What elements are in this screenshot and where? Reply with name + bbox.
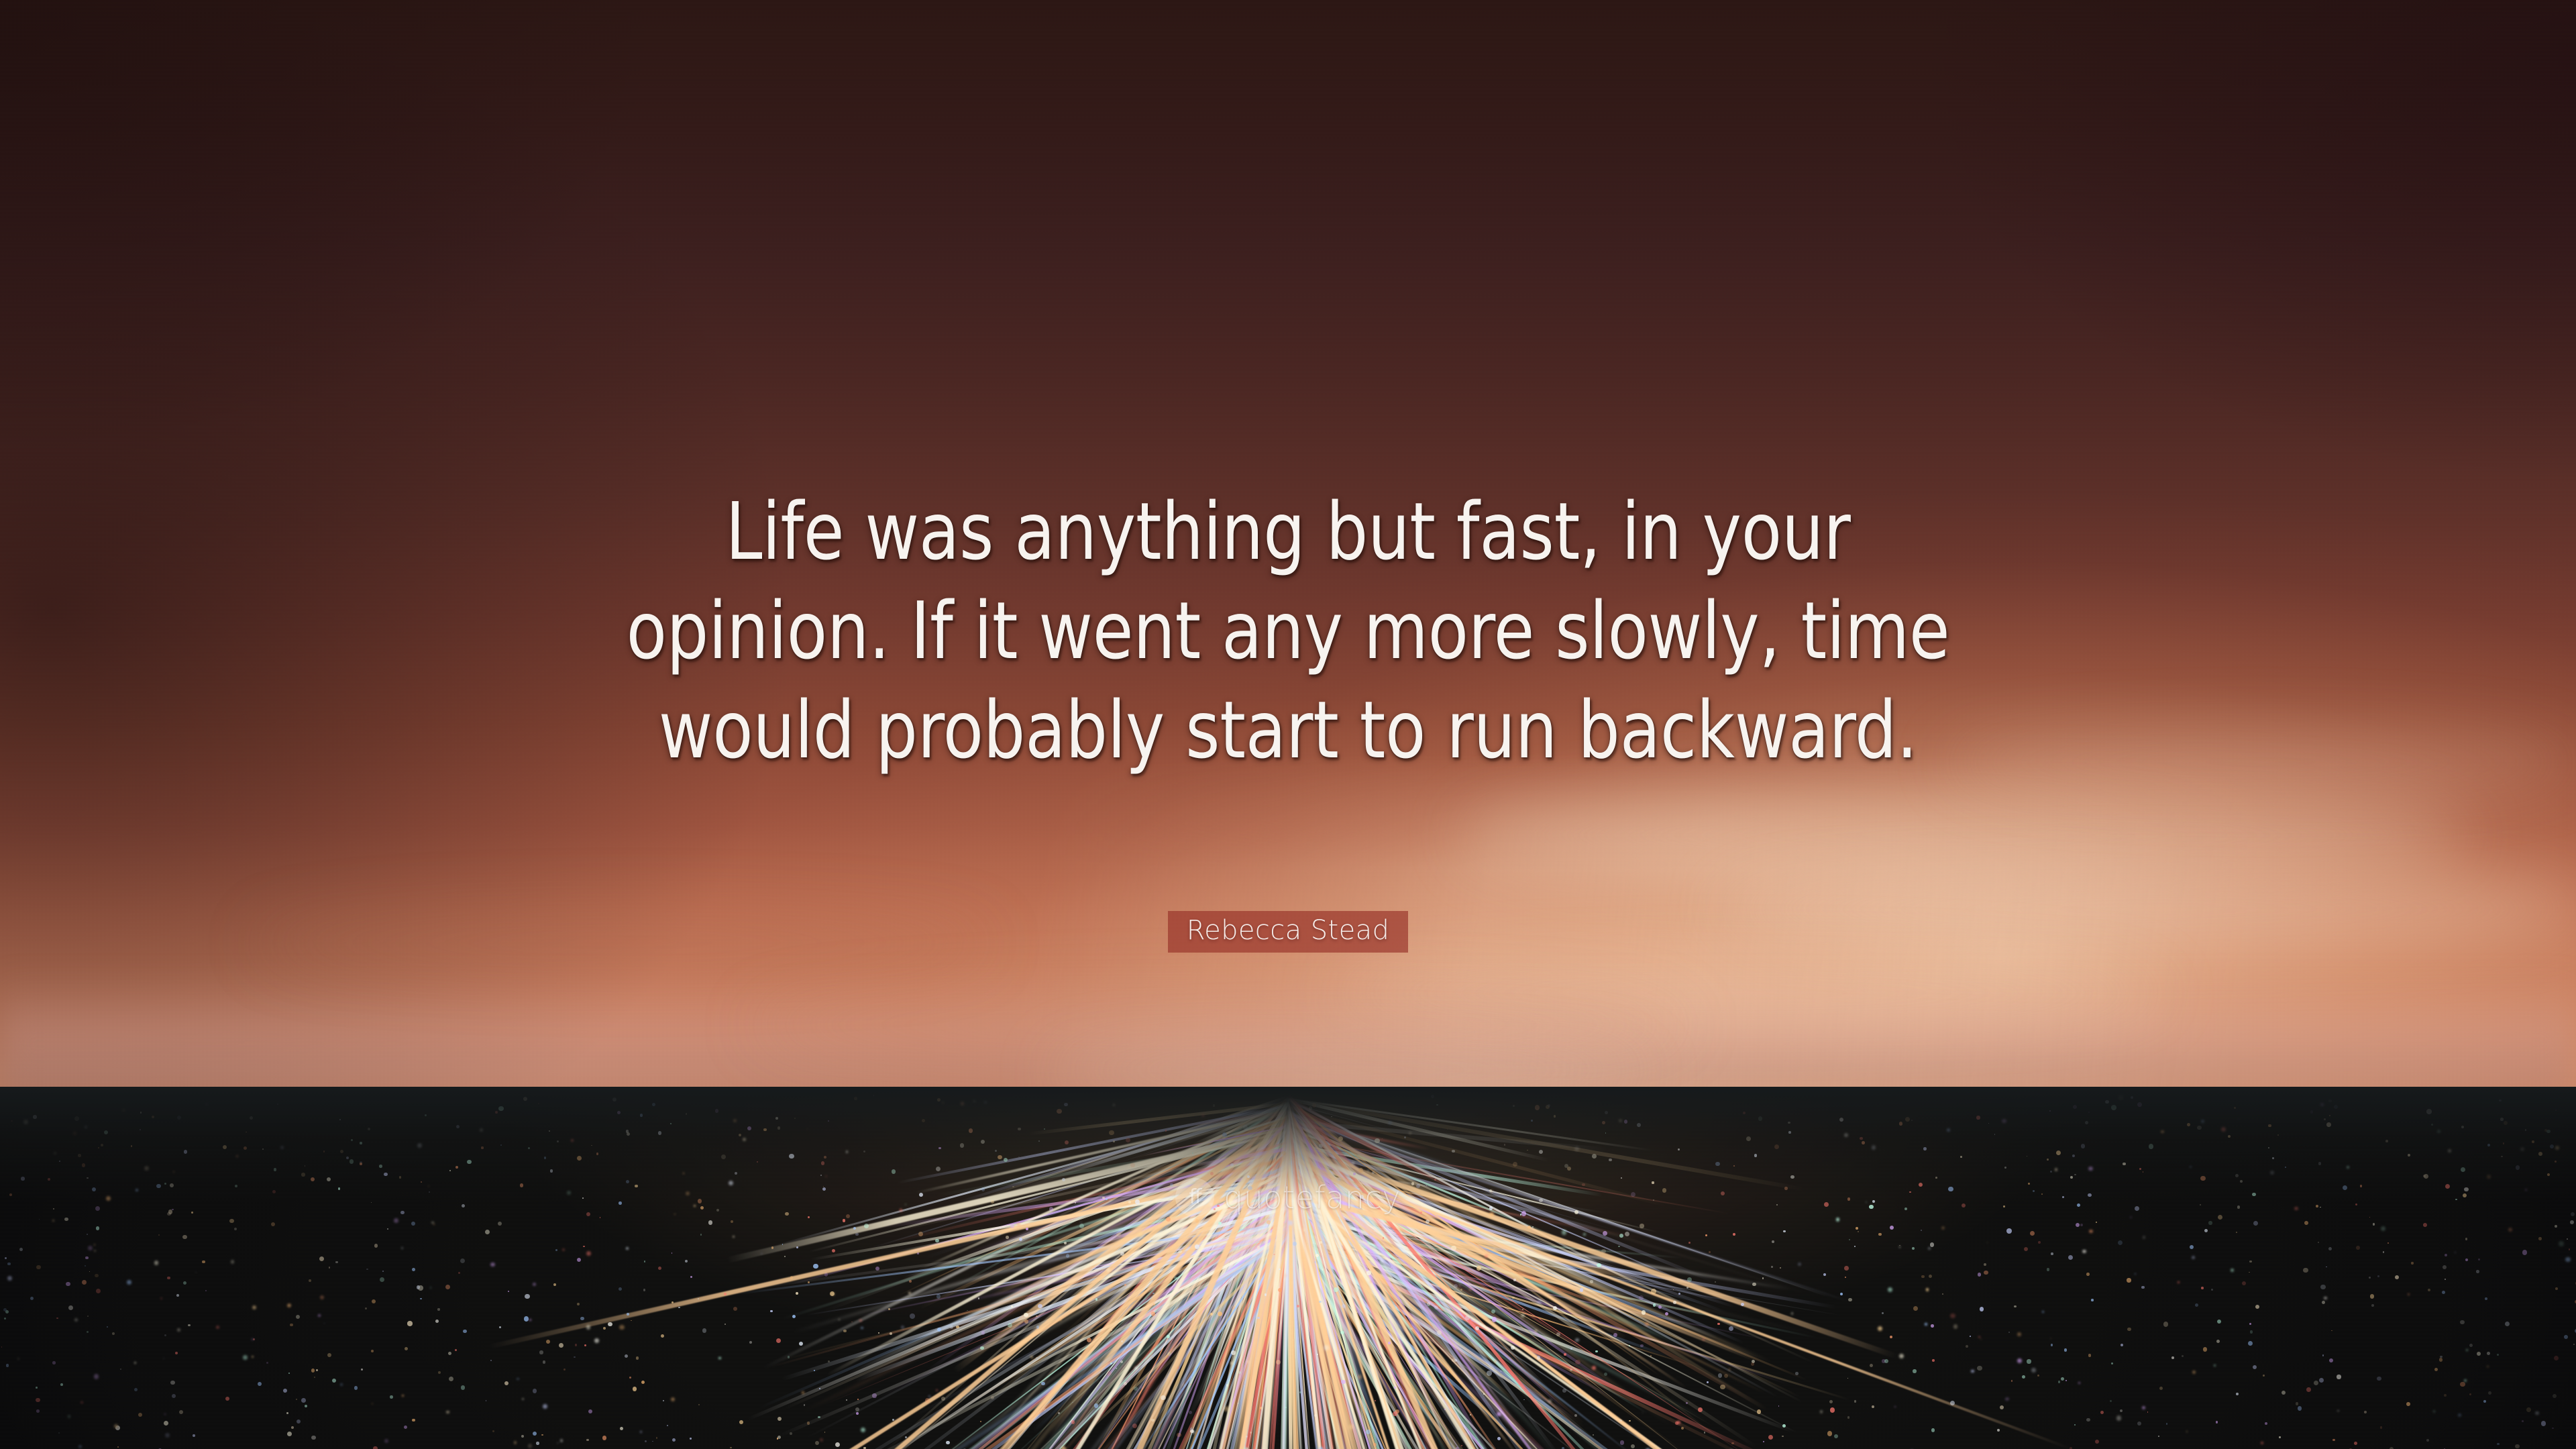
point-light (1190, 1428, 1193, 1430)
quote-line-3: would probably start to run backward. (90, 680, 2485, 780)
point-light (514, 1441, 517, 1444)
point-light (1941, 1226, 1945, 1230)
point-light (2137, 1421, 2141, 1426)
point-light (1217, 1212, 1219, 1214)
point-light (1762, 1277, 1764, 1279)
point-light (2334, 1105, 2338, 1109)
point-light (941, 1397, 945, 1401)
point-light (164, 1334, 166, 1336)
point-light (2127, 1328, 2131, 1331)
point-light (2569, 1248, 2571, 1250)
point-light (1426, 1185, 1428, 1186)
point-light (2218, 1215, 2222, 1220)
point-light (2296, 1402, 2298, 1405)
point-light (1909, 1191, 1911, 1193)
point-light (2324, 1118, 2326, 1120)
point-light (2423, 1223, 2427, 1227)
point-light (873, 1095, 875, 1096)
point-light (1165, 1238, 1168, 1241)
point-light (553, 1283, 556, 1286)
point-light (1452, 1358, 1455, 1362)
point-light (368, 1128, 370, 1130)
point-light (2234, 1107, 2236, 1109)
point-light (236, 1155, 238, 1157)
point-light (550, 1169, 553, 1173)
point-light (2503, 1142, 2504, 1144)
point-light (851, 1322, 853, 1323)
point-light (2100, 1411, 2104, 1414)
point-light (1231, 1305, 1235, 1309)
point-light (405, 1347, 408, 1350)
point-light (2444, 1394, 2447, 1397)
point-light (1605, 1132, 1607, 1134)
point-light (481, 1146, 483, 1148)
point-light (1452, 1150, 1455, 1153)
point-light (2428, 1289, 2431, 1292)
point-light (2434, 1368, 2438, 1371)
point-light (1911, 1120, 1913, 1121)
point-light (1931, 1428, 1935, 1432)
point-light (910, 1313, 914, 1318)
point-light (1912, 1247, 1915, 1250)
point-light (1554, 1115, 1556, 1118)
point-light (950, 1326, 953, 1329)
point-light (1994, 1134, 1996, 1135)
point-light (2217, 1320, 2221, 1324)
point-light (2445, 1279, 2447, 1281)
point-light (56, 1318, 58, 1319)
point-light (1707, 1381, 1709, 1383)
point-light (2554, 1356, 2559, 1360)
point-light (981, 1140, 985, 1144)
point-light (1362, 1342, 1366, 1346)
point-light (1899, 1246, 1900, 1248)
point-light (2497, 1354, 2499, 1356)
point-light (92, 1187, 96, 1191)
point-light (2381, 1226, 2385, 1231)
point-light (1583, 1233, 1586, 1236)
point-light (1978, 1273, 1982, 1277)
point-light (2080, 1224, 2083, 1226)
point-light (380, 1277, 384, 1282)
point-light (936, 1389, 938, 1391)
point-light (1165, 1228, 1169, 1231)
point-light (1265, 1293, 1267, 1295)
point-light (68, 1415, 71, 1418)
point-light (2033, 1190, 2035, 1192)
point-light (1790, 1175, 1794, 1179)
point-light (807, 1128, 808, 1130)
point-light (2329, 1358, 2333, 1362)
point-light (1619, 1419, 1621, 1421)
point-light (1420, 1212, 1421, 1213)
point-light (2443, 1265, 2447, 1269)
point-light (1213, 1104, 1216, 1107)
point-light (586, 1325, 590, 1329)
point-light (430, 1287, 432, 1289)
point-light (528, 1444, 532, 1448)
point-light (252, 1356, 254, 1358)
point-light (644, 1260, 646, 1263)
point-light (316, 1369, 318, 1371)
point-light (1771, 1266, 1772, 1267)
point-light (824, 1156, 826, 1159)
point-light (2541, 1421, 2546, 1426)
point-light (560, 1439, 563, 1442)
point-light (438, 1371, 441, 1374)
point-light (2318, 1162, 2322, 1165)
point-light (2282, 1391, 2286, 1395)
point-light (1269, 1213, 1273, 1217)
point-light (2263, 1375, 2265, 1377)
point-light (1193, 1179, 1195, 1181)
point-light (2406, 1402, 2410, 1406)
point-light (819, 1388, 820, 1389)
point-light (2364, 1411, 2367, 1413)
point-light (165, 1433, 170, 1438)
point-light (1844, 1133, 1848, 1137)
point-light (1375, 1138, 1379, 1143)
point-light (1437, 1330, 1442, 1335)
point-light (1427, 1302, 1430, 1305)
point-light (156, 1184, 160, 1188)
point-light (1338, 1287, 1340, 1288)
point-light (1269, 1190, 1272, 1193)
point-light (2208, 1221, 2212, 1224)
point-light (1590, 1280, 1593, 1283)
point-light (678, 1307, 680, 1308)
point-light (1312, 1103, 1317, 1108)
point-light (2505, 1322, 2510, 1326)
point-light (1676, 1421, 1680, 1424)
point-light (2082, 1250, 2086, 1253)
point-light (160, 1297, 162, 1299)
point-light (2111, 1362, 2114, 1365)
point-light (521, 1435, 524, 1438)
point-light (296, 1399, 298, 1401)
point-light (2555, 1110, 2557, 1111)
point-light (724, 1293, 727, 1295)
point-light (1360, 1195, 1364, 1199)
point-light (78, 1445, 82, 1448)
point-light (164, 1421, 168, 1426)
point-light (2252, 1193, 2255, 1196)
point-light (733, 1119, 737, 1122)
point-light (936, 1167, 941, 1172)
point-light (1921, 1230, 1922, 1231)
point-light (1987, 1242, 1988, 1244)
point-light (1984, 1263, 1986, 1266)
point-light (2006, 1228, 2012, 1234)
point-light (1890, 1336, 1892, 1338)
point-light (2078, 1382, 2080, 1384)
point-light (1360, 1275, 1361, 1277)
point-light (538, 1103, 539, 1104)
point-light (1226, 1384, 1228, 1386)
point-light (1976, 1116, 1980, 1119)
point-light (1980, 1307, 1984, 1311)
point-light (1120, 1360, 1124, 1364)
point-light (1715, 1162, 1720, 1167)
point-light (2192, 1256, 2195, 1259)
point-light (1130, 1163, 1135, 1168)
point-light (525, 1294, 529, 1299)
point-light (1978, 1336, 1980, 1338)
point-light (1167, 1352, 1171, 1356)
point-light (2387, 1242, 2389, 1244)
point-light (1556, 1332, 1560, 1336)
point-light (433, 1224, 435, 1226)
point-light (1012, 1186, 1014, 1187)
point-light (2236, 1393, 2239, 1395)
point-light (2031, 1368, 2036, 1373)
point-light (1511, 1346, 1515, 1350)
point-light (172, 1394, 176, 1398)
point-light (1512, 1297, 1514, 1299)
point-light (36, 1387, 38, 1389)
point-light (1830, 1407, 1835, 1412)
point-light (400, 1211, 405, 1215)
point-light (2200, 1204, 2201, 1205)
point-light (1366, 1430, 1371, 1434)
point-light (9, 1193, 12, 1196)
point-light (412, 1419, 415, 1421)
point-light (82, 1163, 85, 1167)
point-light (446, 1411, 449, 1414)
point-light (641, 1381, 645, 1384)
point-light (1930, 1242, 1935, 1247)
point-light (340, 1150, 343, 1153)
point-light (390, 1395, 393, 1399)
point-light (272, 1190, 276, 1193)
point-light (1834, 1434, 1838, 1438)
point-light (938, 1147, 941, 1150)
point-light (1729, 1368, 1731, 1371)
point-light (1575, 1360, 1580, 1364)
point-light (1447, 1258, 1449, 1260)
point-light (2137, 1102, 2142, 1107)
point-light (1890, 1226, 1894, 1230)
point-light (981, 1187, 985, 1191)
point-light (373, 1446, 378, 1449)
point-light (640, 1431, 642, 1433)
point-light (117, 1446, 119, 1448)
author-name-badge[interactable]: Rebecca Stead (1168, 911, 1409, 953)
point-light (1011, 1305, 1013, 1307)
point-light (1483, 1393, 1485, 1395)
quote-line-1: Life was anything but fast, in your (90, 482, 2485, 581)
point-light (158, 1234, 160, 1236)
point-light (1650, 1355, 1652, 1356)
point-light (1447, 1129, 1448, 1130)
point-light (87, 1234, 88, 1235)
point-light (794, 1118, 796, 1119)
point-light (557, 1140, 559, 1142)
point-light (2041, 1193, 2043, 1195)
point-light (164, 1413, 166, 1415)
point-light (384, 1173, 387, 1176)
point-light (1580, 1288, 1583, 1291)
point-light (724, 1324, 726, 1325)
point-light (1553, 1306, 1557, 1310)
point-light (2526, 1407, 2531, 1412)
point-light (2127, 1278, 2131, 1282)
point-light (1322, 1269, 1324, 1271)
point-light (2135, 1206, 2139, 1211)
point-light (1705, 1234, 1707, 1236)
point-light (2178, 1281, 2180, 1283)
point-light (1019, 1238, 1022, 1241)
point-light (2022, 1375, 2025, 1379)
point-light (2141, 1286, 2144, 1289)
point-light (2377, 1275, 2379, 1277)
point-light (177, 1116, 181, 1120)
point-light (594, 1338, 599, 1343)
point-light (2500, 1118, 2503, 1120)
point-light (33, 1115, 37, 1119)
point-light (1426, 1220, 1430, 1224)
point-light (626, 1247, 629, 1250)
point-light (2131, 1096, 2133, 1099)
point-light (311, 1368, 315, 1373)
point-light (429, 1191, 430, 1193)
point-light (1066, 1254, 1069, 1257)
point-light (60, 1383, 63, 1386)
point-light (229, 1219, 233, 1223)
point-light (557, 1442, 558, 1444)
point-light (799, 1342, 803, 1346)
point-light (2331, 1330, 2332, 1331)
point-light (1431, 1095, 1434, 1098)
point-light (1782, 1436, 1783, 1437)
point-light (1489, 1212, 1493, 1216)
point-light (1948, 1187, 1953, 1192)
point-light (796, 1246, 798, 1248)
point-light (1913, 1369, 1917, 1373)
city-point-lights (0, 1087, 2576, 1449)
point-light (1894, 1406, 1896, 1408)
point-light (2096, 1222, 2097, 1223)
point-light (11, 1120, 12, 1122)
point-light (690, 1276, 692, 1278)
point-light (543, 1360, 545, 1363)
point-light (2055, 1168, 2057, 1171)
point-light (346, 1157, 350, 1160)
point-light (1548, 1399, 1552, 1403)
point-light (1953, 1324, 1957, 1328)
point-light (1210, 1313, 1213, 1316)
point-light (1950, 1313, 1955, 1319)
point-light (1128, 1165, 1131, 1169)
point-light (575, 1344, 578, 1346)
point-light (2182, 1355, 2184, 1357)
point-light (107, 1326, 108, 1328)
point-light (277, 1104, 278, 1105)
point-light (984, 1101, 987, 1104)
point-light (1367, 1170, 1369, 1172)
point-light (1257, 1317, 1259, 1319)
point-light (1686, 1402, 1688, 1404)
point-light (425, 1114, 427, 1116)
point-light (1658, 1305, 1662, 1309)
point-light (339, 1119, 341, 1120)
point-light (2395, 1275, 2399, 1279)
point-light (1575, 1338, 1578, 1342)
point-light (1984, 1271, 1988, 1275)
point-light (1720, 1385, 1725, 1389)
point-light (1872, 1200, 1875, 1203)
point-light (1783, 1230, 1786, 1233)
point-light (1459, 1285, 1460, 1286)
point-light (1847, 1197, 1850, 1200)
point-light (52, 1361, 56, 1364)
point-light (480, 1128, 483, 1132)
point-light (2027, 1359, 2031, 1363)
point-light (387, 1228, 388, 1230)
point-light (1319, 1301, 1322, 1303)
point-light (1105, 1287, 1108, 1290)
point-light (776, 1338, 781, 1343)
point-light (643, 1289, 646, 1291)
point-light (2546, 1130, 2551, 1134)
point-light (1854, 1400, 1857, 1403)
point-light (1161, 1395, 1165, 1400)
point-light (2424, 1174, 2428, 1179)
point-light (7, 1276, 12, 1281)
point-light (761, 1253, 763, 1254)
point-light (788, 1356, 790, 1358)
point-light (1823, 1273, 1826, 1276)
point-light (1928, 1247, 1931, 1250)
point-light (1404, 1136, 1407, 1139)
point-light (1454, 1284, 1458, 1288)
point-light (1942, 1293, 1943, 1295)
point-light (1925, 1323, 1927, 1326)
point-light (1218, 1222, 1222, 1225)
point-light (2487, 1352, 2490, 1355)
point-light (2497, 1443, 2499, 1445)
point-light (372, 1403, 374, 1405)
point-light (2091, 1299, 2094, 1301)
point-light (2142, 1406, 2145, 1409)
point-light (374, 1244, 378, 1247)
point-light (407, 1321, 412, 1326)
point-light (2072, 1155, 2075, 1157)
point-light (878, 1332, 879, 1334)
point-light (1858, 1231, 1860, 1233)
point-light (739, 1134, 741, 1136)
point-light (946, 1441, 950, 1445)
point-light (1049, 1207, 1054, 1212)
point-light (1829, 1400, 1833, 1404)
point-light (536, 1442, 539, 1444)
point-light (1872, 1405, 1874, 1408)
point-light (2337, 1375, 2341, 1379)
point-light (1030, 1356, 1033, 1358)
point-light (1299, 1391, 1301, 1393)
point-light (2014, 1305, 2016, 1307)
point-light (1485, 1254, 1488, 1258)
point-light (134, 1362, 136, 1364)
point-light (1113, 1104, 1115, 1106)
point-light (1489, 1189, 1492, 1192)
point-light (627, 1132, 630, 1136)
point-light (715, 1109, 718, 1112)
point-light (2277, 1134, 2279, 1136)
point-light (1192, 1152, 1193, 1154)
point-light (39, 1219, 40, 1220)
point-light (286, 1412, 288, 1414)
